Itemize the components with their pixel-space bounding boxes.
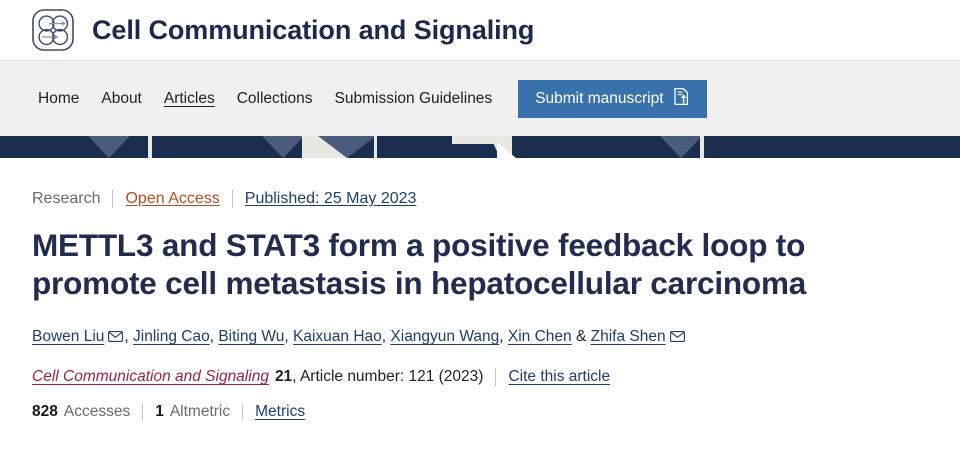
- four-circles-signaling-logo-icon[interactable]: [30, 7, 76, 53]
- meta-divider: [242, 403, 243, 421]
- accesses-count: 828: [32, 403, 58, 421]
- author-separator: ,: [499, 328, 508, 345]
- journal-name-link[interactable]: Cell Communication and Signaling: [32, 368, 269, 386]
- envelope-icon[interactable]: [108, 329, 123, 346]
- meta-divider: [142, 403, 143, 421]
- nav-items: Home About Articles Collections Submissi…: [38, 90, 492, 108]
- submit-manuscript-button[interactable]: Submit manuscript: [518, 80, 706, 118]
- volume-number: 21: [275, 368, 292, 386]
- meta-divider: [232, 190, 233, 208]
- nav-item-collections[interactable]: Collections: [237, 90, 313, 108]
- page-title: METTL3 and STAT3 form a positive feedbac…: [32, 226, 862, 303]
- author-separator: ,: [124, 328, 133, 345]
- author-separator: ,: [284, 328, 293, 345]
- author-link[interactable]: Biting Wu: [218, 328, 284, 345]
- envelope-icon[interactable]: [670, 329, 685, 346]
- nav-item-submission-guidelines[interactable]: Submission Guidelines: [335, 90, 493, 108]
- author-list: Bowen Liu, Jinling Cao, Biting Wu, Kaixu…: [32, 325, 930, 349]
- citation-line: Cell Communication and Signaling 21 , Ar…: [32, 368, 930, 386]
- article-type: Research: [32, 190, 100, 208]
- altmetric-count: 1: [155, 403, 164, 421]
- site-masthead: Cell Communication and Signaling: [0, 0, 960, 60]
- journal-title: Cell Communication and Signaling: [92, 15, 534, 46]
- author-link[interactable]: Bowen Liu: [32, 328, 104, 345]
- document-upload-icon: [673, 87, 690, 111]
- author-separator: &: [572, 328, 591, 345]
- nav-item-articles[interactable]: Articles: [164, 90, 215, 108]
- altmetric-label: Altmetric: [170, 403, 230, 421]
- published-date-link[interactable]: Published: 25 May 2023: [245, 190, 417, 208]
- article-meta-line: Research Open Access Published: 25 May 2…: [32, 190, 930, 208]
- metrics-link[interactable]: Metrics: [255, 403, 305, 421]
- author-link[interactable]: Xin Chen: [508, 328, 572, 345]
- primary-navigation: Home About Articles Collections Submissi…: [0, 60, 960, 136]
- accesses-label: Accesses: [64, 403, 130, 421]
- meta-divider: [112, 190, 113, 208]
- author-link[interactable]: Xiangyun Wang: [390, 328, 499, 345]
- nav-item-home[interactable]: Home: [38, 90, 79, 108]
- article-number: , Article number: 121 (2023): [292, 368, 483, 386]
- article-header: Research Open Access Published: 25 May 2…: [0, 158, 960, 421]
- author-link[interactable]: Jinling Cao: [133, 328, 210, 345]
- open-access-link[interactable]: Open Access: [125, 190, 219, 208]
- decorative-banner-strip: [0, 136, 960, 158]
- nav-item-about[interactable]: About: [101, 90, 142, 108]
- submit-manuscript-label: Submit manuscript: [535, 90, 663, 108]
- metrics-line: 828 Accesses 1 Altmetric Metrics: [32, 403, 930, 421]
- author-link[interactable]: Zhifa Shen: [591, 328, 666, 345]
- author-link[interactable]: Kaixuan Hao: [293, 328, 382, 345]
- cite-this-article-link[interactable]: Cite this article: [508, 368, 610, 386]
- meta-divider: [495, 368, 496, 386]
